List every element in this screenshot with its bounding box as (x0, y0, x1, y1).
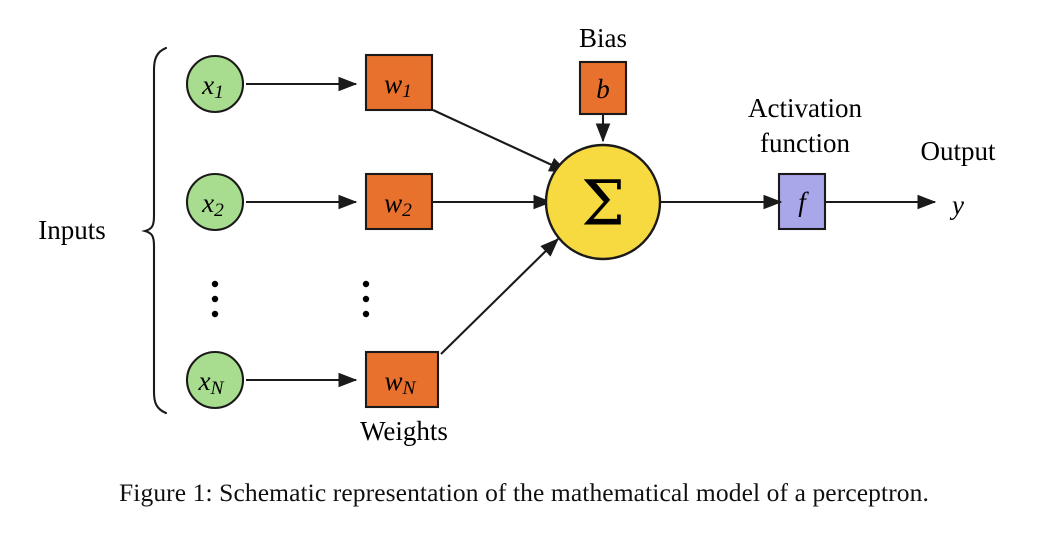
edge-weight1-to-sum (433, 110, 567, 172)
input-node-n[interactable]: xN (187, 352, 243, 408)
perceptron-diagram: Inputs x1 w1 x2 w (0, 0, 1048, 470)
input-node-1[interactable]: x1 (187, 56, 243, 112)
bias-node-label: b (596, 74, 610, 104)
inputs-label: Inputs (38, 215, 106, 245)
bias-label: Bias (579, 23, 627, 53)
inputs-ellipsis (212, 281, 218, 317)
perceptron-figure: Inputs x1 w1 x2 w (0, 0, 1048, 546)
output-node-symbol: y (949, 190, 964, 220)
activation-label-line2: function (760, 128, 850, 158)
activation-node[interactable]: f (779, 174, 825, 229)
sigma-symbol: Σ (581, 167, 625, 240)
bias-node[interactable]: b (580, 62, 626, 114)
weights-ellipsis (363, 281, 369, 317)
inputs-brace (145, 48, 166, 413)
edge-weightn-to-sum (441, 239, 558, 354)
summation-node[interactable]: Σ (546, 145, 660, 259)
figure-caption: Figure 1: Schematic representation of th… (0, 478, 1048, 508)
weight-node-n[interactable]: wN (366, 352, 438, 407)
weights-label: Weights (360, 416, 448, 446)
weight-node-2[interactable]: w2 (366, 174, 432, 229)
input-node-2[interactable]: x2 (187, 174, 243, 230)
weight-node-1[interactable]: w1 (366, 55, 432, 110)
output-label: Output (920, 136, 996, 166)
activation-label-line1: Activation (748, 93, 862, 123)
